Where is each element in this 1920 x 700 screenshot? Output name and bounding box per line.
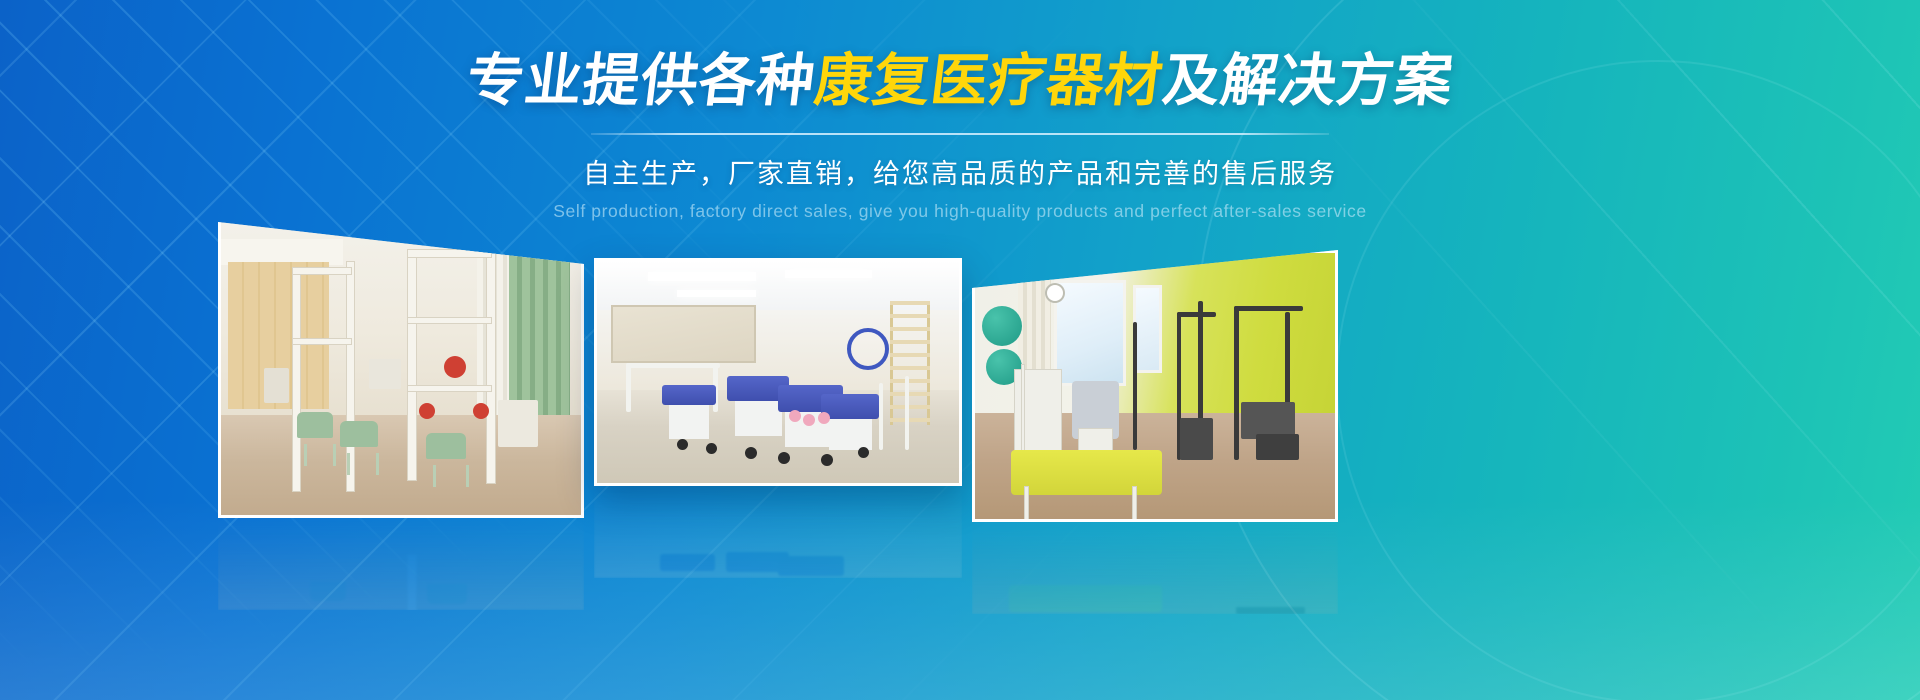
photo-reflection-right [972, 522, 1338, 614]
banner-subtitle-chinese: 自主生产，厂家直销，给您高品质的产品和完善的售后服务 [0, 152, 1920, 191]
photo-scene-left [221, 221, 581, 515]
photo-reflection-middle [594, 486, 962, 578]
bottom-glow [0, 500, 1920, 700]
headline-part-2-highlight: 康复医疗器材 [811, 48, 1167, 114]
headline-part-3: 及解决方案 [1159, 48, 1457, 114]
banner-headline: 专业提供各种康复医疗器材及解决方案 [463, 52, 1456, 112]
photo-scene-right [975, 253, 1335, 519]
banner-subtitle-english: Self production, factory direct sales, g… [0, 201, 1920, 222]
photo-reflection-left [218, 518, 584, 610]
headline-divider [591, 133, 1329, 135]
banner-text-block: 专业提供各种康复医疗器材及解决方案 自主生产，厂家直销，给您高品质的产品和完善的… [0, 52, 1920, 222]
photo-rehab-training-room[interactable] [218, 218, 584, 518]
photo-scene-middle [597, 261, 959, 483]
photo-therapy-hall[interactable] [594, 258, 962, 486]
photo-gym-equipment-room[interactable] [972, 250, 1338, 522]
promo-banner: 专业提供各种康复医疗器材及解决方案 自主生产，厂家直销，给您高品质的产品和完善的… [0, 0, 1920, 700]
headline-part-1: 专业提供各种 [463, 48, 819, 114]
